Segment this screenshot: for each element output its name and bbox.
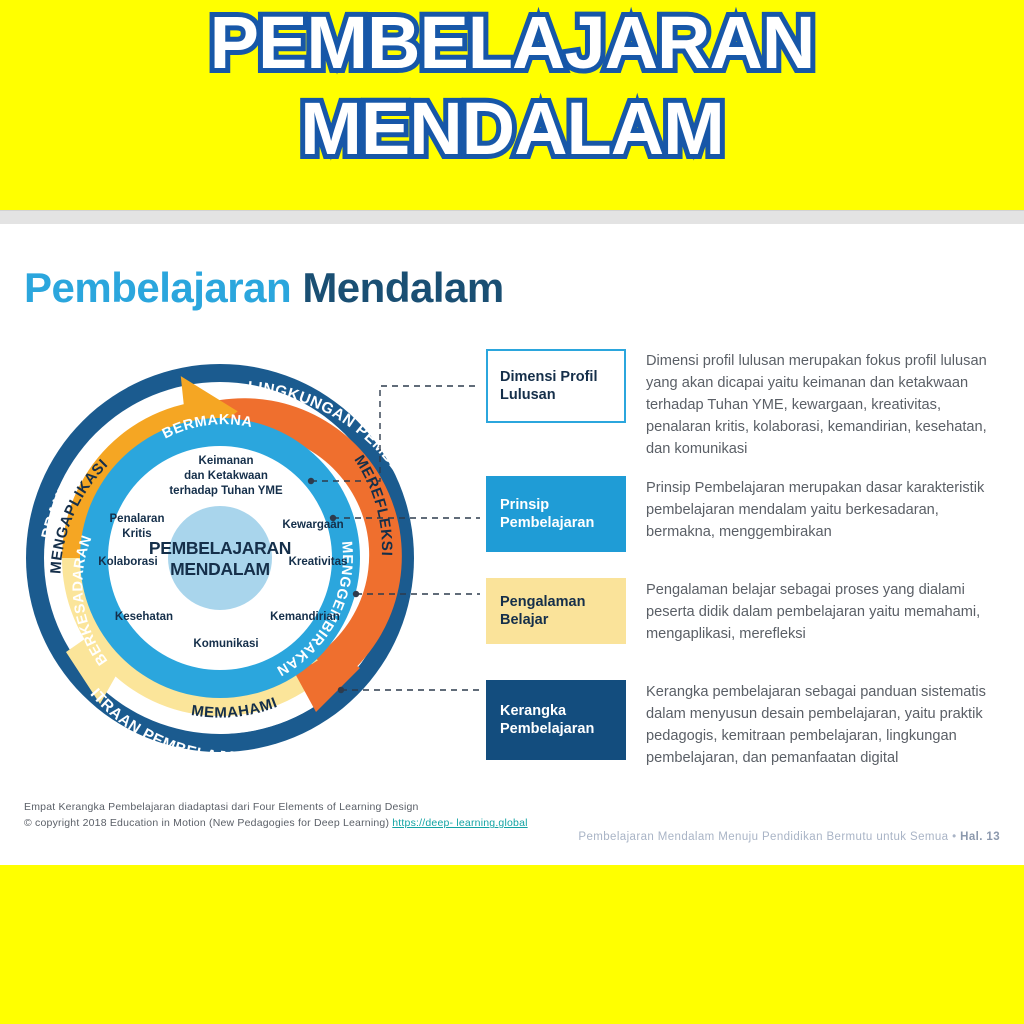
panel-desc-prinsip-pembelajaran: Prinsip Pembelajaran merupakan dasar kar… xyxy=(626,476,1006,544)
core-label-line1: PEMBELAJARAN xyxy=(149,538,291,558)
panel-desc-kerangka-pembelajaran: Kerangka pembelajaran sebagai panduan si… xyxy=(626,680,1006,770)
banner-title-line2: MENDALAM xyxy=(0,92,1024,166)
dimension-keimanan-l1: Keimanan xyxy=(199,455,254,467)
panel-box-label: Pengalaman Belajar xyxy=(500,593,612,629)
panel-box-pengalaman-belajar[interactable]: Pengalaman Belajar xyxy=(486,578,626,644)
slide-content: Pembelajaran Mendalam xyxy=(0,224,1024,865)
bottom-banner xyxy=(0,865,1024,1024)
top-banner: PEMBELAJARAN MENDALAM xyxy=(0,0,1024,210)
page-title-light: Pembelajaran xyxy=(24,264,291,311)
dimension-keimanan-l3: terhadap Tuhan YME xyxy=(169,485,283,497)
panel-row: Kerangka Pembelajaran Kerangka pembelaja… xyxy=(486,680,1006,770)
footer-credit-line2: © copyright 2018 Education in Motion (Ne… xyxy=(24,815,528,831)
concentric-circle-diagram: PRAKTIS PEDAGOGIS LINGKUNGAN PEMBELAJARA… xyxy=(0,332,480,784)
panel-box-label: Kerangka Pembelajaran xyxy=(500,702,612,738)
footer-credit-line1: Empat Kerangka Pembelajaran diadaptasi d… xyxy=(24,799,528,815)
panel-desc-dimensi-profil-lulusan: Dimensi profil lulusan merupakan fokus p… xyxy=(626,349,1006,460)
deep-learning-link[interactable]: https://deep- learning.global xyxy=(392,817,527,829)
footer-page-label: Hal. 13 xyxy=(960,831,1000,843)
core-label-line2: MENDALAM xyxy=(170,559,270,579)
footer-right-text: Pembelajaran Mendalam Menuju Pendidikan … xyxy=(578,831,960,843)
panel-box-prinsip-pembelajaran[interactable]: Prinsip Pembelajaran xyxy=(486,476,626,552)
panel-row: Pengalaman Belajar Pengalaman belajar se… xyxy=(486,578,1006,646)
dimension-komunikasi: Komunikasi xyxy=(193,638,258,650)
page-title-dark: Mendalam xyxy=(291,264,504,311)
core-circle xyxy=(168,506,272,610)
panel-box-kerangka-pembelajaran[interactable]: Kerangka Pembelajaran xyxy=(486,680,626,760)
dimension-keimanan-l2: dan Ketakwaan xyxy=(184,470,268,482)
footer-page-info: Pembelajaran Mendalam Menuju Pendidikan … xyxy=(578,831,1000,843)
dimension-kesehatan: Kesehatan xyxy=(115,611,173,623)
panel-desc-pengalaman-belajar: Pengalaman belajar sebagai proses yang d… xyxy=(626,578,1006,646)
panel-box-label: Prinsip Pembelajaran xyxy=(500,496,612,532)
explanation-panel: Dimensi Profil Lulusan Dimensi profil lu… xyxy=(486,349,1006,784)
dimension-kreativitas: Kreativitas xyxy=(289,556,348,568)
dimension-kemandirian: Kemandirian xyxy=(270,611,340,623)
page-title: Pembelajaran Mendalam xyxy=(24,264,504,312)
footer-copyright-text: © copyright 2018 Education in Motion (Ne… xyxy=(24,817,392,829)
panel-row: Prinsip Pembelajaran Prinsip Pembelajara… xyxy=(486,476,1006,552)
dimension-kritis: Kritis xyxy=(122,528,151,540)
panel-row: Dimensi Profil Lulusan Dimensi profil lu… xyxy=(486,349,1006,460)
banner-title-line1: PEMBELAJARAN xyxy=(0,6,1024,80)
footer-credits: Empat Kerangka Pembelajaran diadaptasi d… xyxy=(24,799,528,832)
panel-box-label: Dimensi Profil Lulusan xyxy=(500,368,612,404)
slide-page: PEMBELAJARAN MENDALAM Pembelajaran Menda… xyxy=(0,0,1024,1024)
panel-box-dimensi-profil-lulusan[interactable]: Dimensi Profil Lulusan xyxy=(486,349,626,423)
dimension-penalaran: Penalaran xyxy=(110,513,165,525)
